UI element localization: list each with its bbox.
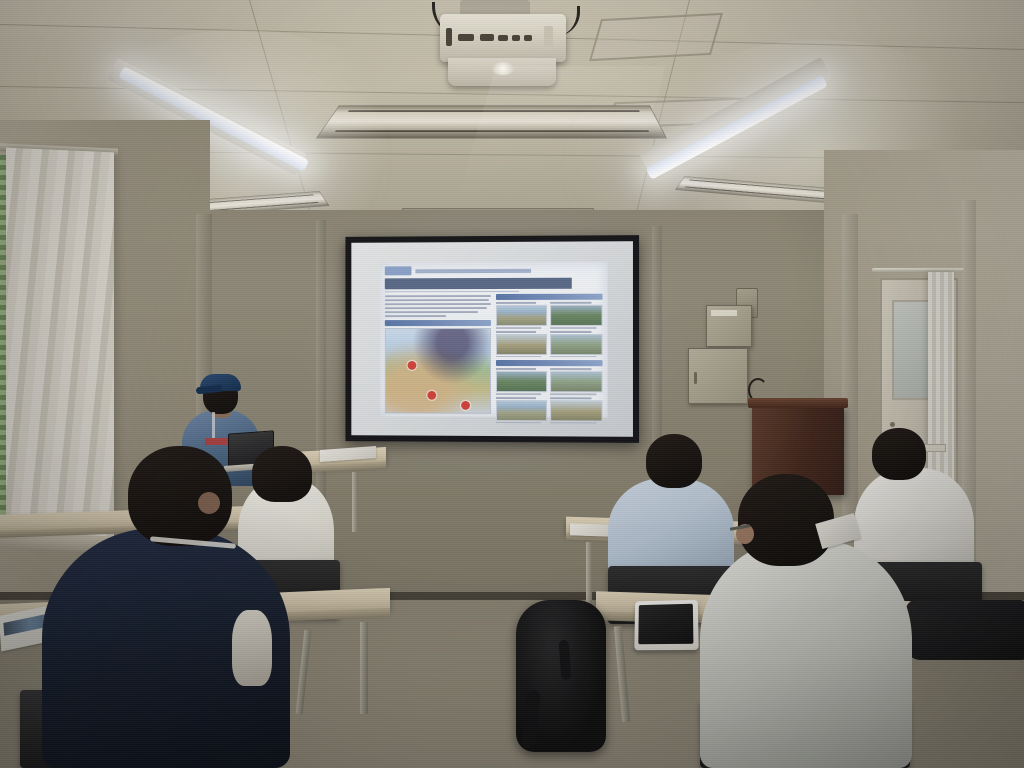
black-bag-on-desk[interactable] <box>906 600 1024 660</box>
slide-photo <box>495 368 547 395</box>
desk-leg <box>586 542 592 608</box>
attendee-head <box>872 428 926 480</box>
window-curtain-left[interactable] <box>6 148 114 543</box>
attendee-head <box>252 446 312 502</box>
attendee-head <box>738 474 834 566</box>
door-knob[interactable] <box>890 422 895 427</box>
screen-surface <box>351 241 633 437</box>
papers-on-desk[interactable] <box>570 523 612 536</box>
attendee-torso <box>700 540 912 768</box>
curtain-tieback[interactable] <box>924 444 946 452</box>
map-marker <box>461 401 470 410</box>
slide-title-rule <box>385 291 519 292</box>
slide-section-bar-bottom <box>495 360 602 366</box>
slide-title <box>385 278 603 290</box>
slide-section-tag <box>385 266 412 275</box>
slide-right-column <box>495 294 602 424</box>
electrical-control-box[interactable] <box>706 305 752 347</box>
map-marker <box>408 361 417 370</box>
ceiling-air-vent-center <box>316 106 667 139</box>
utility-access-panel[interactable] <box>688 348 748 404</box>
desk-leg <box>360 622 368 714</box>
slide-subtitle <box>415 268 602 273</box>
projector-lens <box>492 62 514 75</box>
slide-section-bar-left <box>385 320 491 326</box>
slide-photo <box>550 330 602 357</box>
photo-grid-bottom <box>495 368 602 424</box>
slide-left-column <box>385 294 491 423</box>
tablet-screen[interactable] <box>638 604 693 645</box>
slide-photo <box>550 302 602 329</box>
slide-photo <box>495 330 547 357</box>
presentation-slide <box>380 261 608 417</box>
presenter-lanyard <box>212 412 215 438</box>
ceiling-access-panel <box>589 13 723 61</box>
attendee-ear <box>198 492 220 514</box>
slide-paragraph <box>385 295 491 317</box>
slide-photo <box>550 397 602 424</box>
podium-top-surface <box>748 398 848 408</box>
tablet-on-stand[interactable] <box>634 600 698 651</box>
slide-body <box>385 294 603 424</box>
photo-grid-top <box>495 302 602 357</box>
attendee-head <box>646 434 702 488</box>
desk-leg <box>352 472 358 532</box>
attendee-arm <box>232 610 272 686</box>
slide-photo <box>495 397 547 424</box>
map-marker <box>427 391 436 400</box>
hazard-map-illustration <box>385 328 491 414</box>
slide-section-bar-top <box>495 294 602 300</box>
classroom-photo <box>0 0 1024 768</box>
slide-photo <box>495 302 547 329</box>
slide-header <box>385 266 603 276</box>
projection-screen <box>345 235 639 443</box>
ceiling-projector <box>440 14 566 62</box>
slide-photo <box>550 368 602 395</box>
